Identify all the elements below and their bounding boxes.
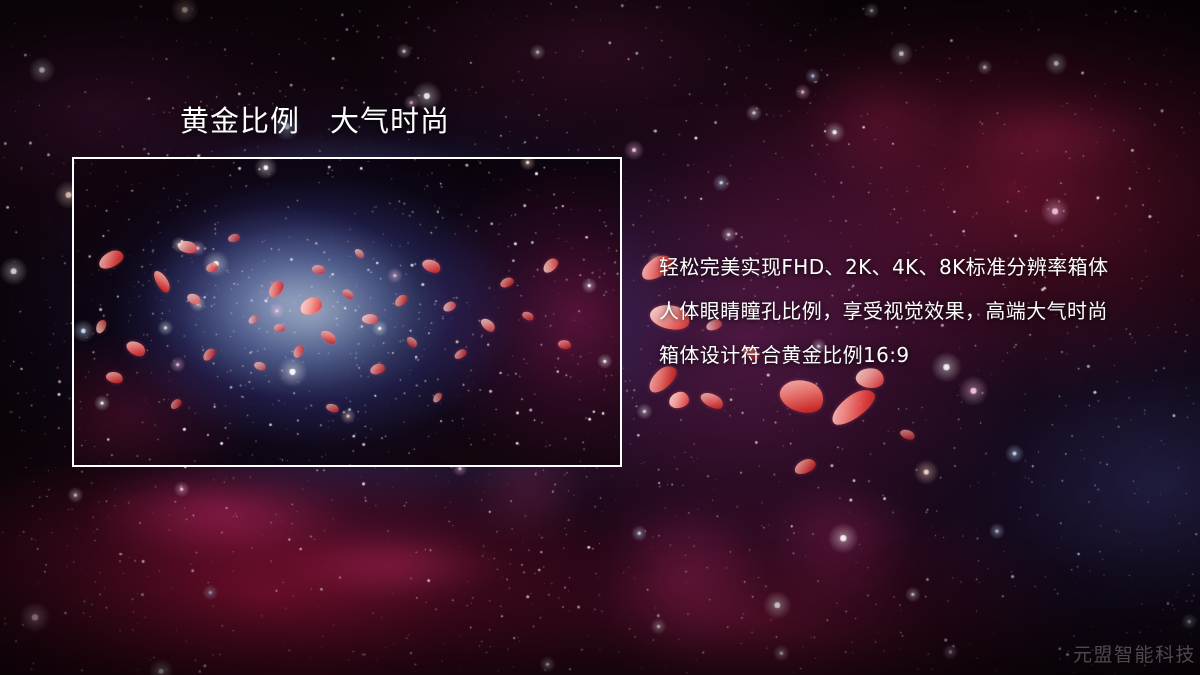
flower-petal bbox=[228, 233, 241, 243]
flower-petal bbox=[557, 338, 572, 350]
flower-petal bbox=[273, 323, 285, 333]
flower-petal bbox=[792, 457, 817, 477]
flower-petal bbox=[253, 360, 267, 372]
flower-petal bbox=[353, 247, 365, 260]
flower-petal bbox=[124, 338, 148, 360]
flower-petal bbox=[453, 348, 468, 361]
flower-petal bbox=[369, 362, 386, 375]
flower-petal bbox=[247, 314, 259, 325]
flower-petal bbox=[169, 397, 183, 410]
feature-line-3: 箱体设计符合黄金比例16:9 bbox=[659, 344, 1169, 367]
flower-petal bbox=[96, 247, 126, 271]
petals-inside-frame bbox=[74, 159, 620, 465]
feature-line-2: 人体眼睛瞳孔比例，享受视觉效果，高端大气时尚 bbox=[659, 300, 1169, 323]
feature-description-block: 轻松完美实现FHD、2K、4K、8K标准分辨率箱体 人体眼睛瞳孔比例，享受视觉效… bbox=[659, 256, 1169, 367]
flower-petal bbox=[319, 328, 338, 347]
flower-petal bbox=[668, 391, 690, 410]
flower-petal bbox=[325, 402, 340, 415]
flower-petal bbox=[298, 295, 324, 316]
flower-petal bbox=[341, 287, 355, 301]
flower-petal bbox=[899, 427, 916, 442]
flower-petal bbox=[201, 346, 217, 362]
flower-petal bbox=[521, 310, 535, 323]
flower-petal bbox=[185, 291, 202, 307]
company-watermark: 元盟智能科技 bbox=[1073, 640, 1196, 667]
flower-petal bbox=[540, 256, 560, 275]
flower-petal bbox=[826, 384, 880, 430]
feature-line-1: 轻松完美实现FHD、2K、4K、8K标准分辨率箱体 bbox=[659, 256, 1169, 279]
flower-petal bbox=[698, 389, 725, 412]
flower-petal bbox=[479, 316, 497, 334]
flower-petal bbox=[105, 369, 125, 385]
presentation-slide: 黄金比例 大气时尚 轻松完美实现FHD、2K、4K、8K标准分辨率箱体 人体眼睛… bbox=[0, 0, 1200, 675]
flower-petal bbox=[177, 238, 199, 255]
display-panel-frame bbox=[72, 157, 622, 467]
flower-petal bbox=[311, 263, 326, 276]
flower-petal bbox=[361, 313, 378, 325]
flower-petal bbox=[393, 293, 410, 309]
flower-petal bbox=[94, 318, 109, 335]
flower-petal bbox=[266, 278, 287, 299]
flower-petal bbox=[405, 335, 419, 349]
flower-petal bbox=[854, 365, 886, 390]
flower-petal bbox=[776, 373, 829, 419]
flower-petal bbox=[152, 268, 173, 294]
slide-title: 黄金比例 大气时尚 bbox=[180, 103, 450, 139]
flower-petal bbox=[420, 256, 442, 276]
flower-petal bbox=[291, 344, 306, 360]
flower-petal bbox=[205, 262, 218, 273]
flower-petal bbox=[431, 391, 444, 404]
flower-petal bbox=[499, 276, 515, 289]
flower-petal bbox=[442, 300, 457, 313]
